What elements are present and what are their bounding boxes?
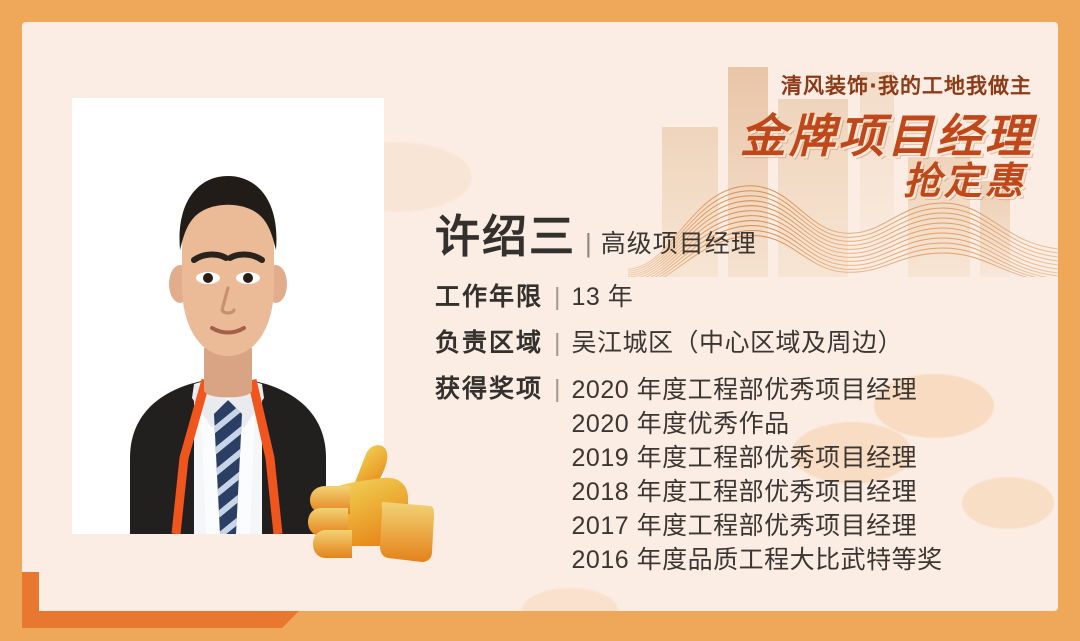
info-label: 工作年限 [435,281,543,314]
award-item: 2017 年度工程部优秀项目经理 [572,509,943,543]
info-label: 负责区域 [435,327,543,360]
background-blob [522,588,618,611]
poster-root: 清风装饰·我的工地我做主 金牌项目经理 抢定惠 [0,0,1080,641]
info-value: 吴江城区（中心区域及周边） [572,327,904,360]
info-row-awards: 获得奖项 | 2020 年度工程部优秀项目经理 2020 年度优秀作品 2019… [435,373,1030,577]
thumbs-up-icon [308,436,434,578]
person-name: 许绍三 [435,214,576,259]
award-item: 2020 年度工程部优秀项目经理 [572,373,943,407]
profile-info: 许绍三 | 高级项目经理 工作年限 | 13 年 负责区域 | 吴江城区（中心区… [435,214,1030,590]
awards-divider: | [554,373,561,406]
name-row: 许绍三 | 高级项目经理 [435,214,1030,259]
info-row-region: 负责区域 | 吴江城区（中心区域及周边） [435,327,1030,360]
header-title-line2: 抢定惠 [903,150,1026,205]
award-item: 2019 年度工程部优秀项目经理 [572,441,943,475]
awards-list: 2020 年度工程部优秀项目经理 2020 年度优秀作品 2019 年度工程部优… [572,373,943,577]
info-divider: | [554,327,561,360]
award-item: 2020 年度优秀作品 [572,407,943,441]
info-divider: | [554,281,561,314]
name-divider: | [585,230,592,256]
awards-label: 获得奖项 [435,373,543,406]
info-row-experience: 工作年限 | 13 年 [435,281,1030,314]
award-item: 2018 年度工程部优秀项目经理 [572,475,943,509]
header-subtitle: 清风装饰·我的工地我做主 [781,70,1032,100]
poster-card: 清风装饰·我的工地我做主 金牌项目经理 抢定惠 [22,22,1058,611]
corner-accent-vertical [22,572,39,628]
info-value: 13 年 [572,281,634,314]
award-item: 2016 年度品质工程大比武特等奖 [572,543,943,577]
person-role: 高级项目经理 [601,232,757,257]
corner-accent-horizontal [22,611,282,628]
